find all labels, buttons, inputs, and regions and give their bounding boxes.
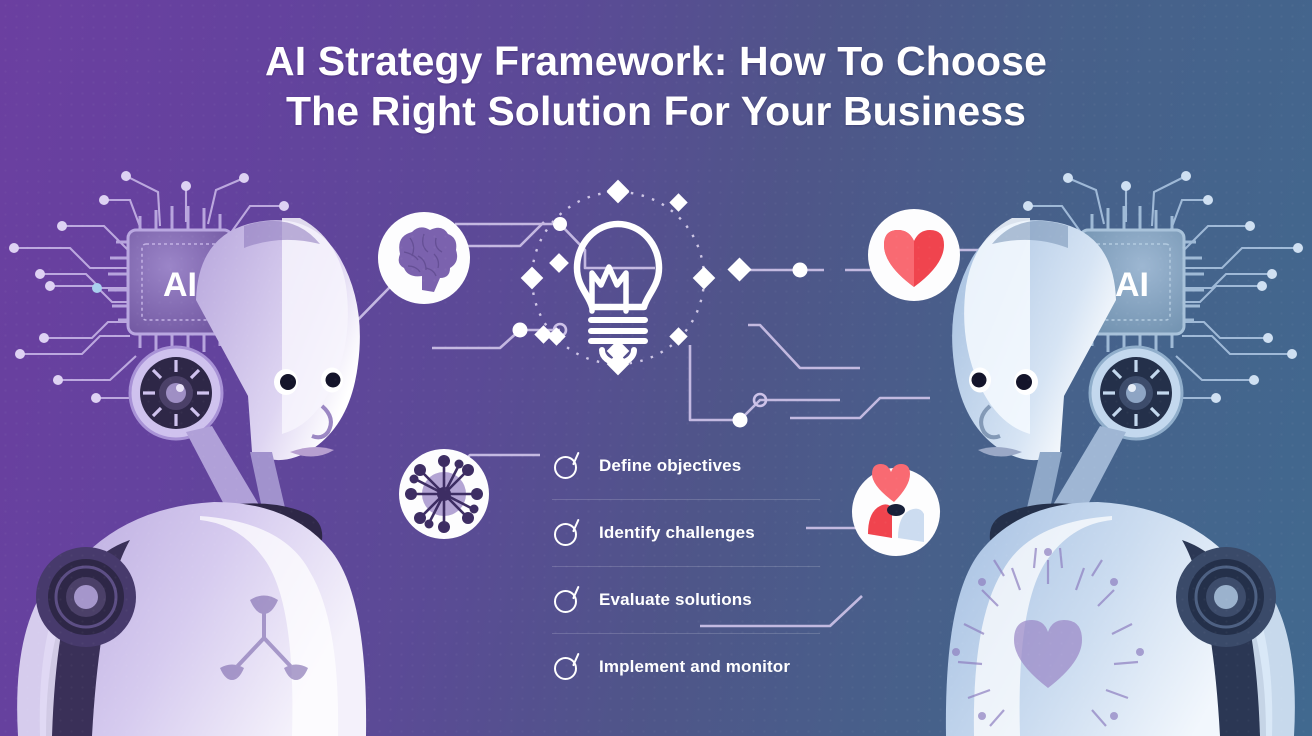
network-bubble[interactable] — [399, 449, 489, 539]
checklist-item-label: Implement and monitor — [599, 657, 790, 677]
checklist-item-label: Evaluate solutions — [599, 590, 752, 610]
connector-nodes — [513, 180, 808, 428]
checklist-item-define-objectives[interactable]: Define objectives — [552, 433, 820, 499]
ai-chip-right-label: AI — [1115, 266, 1149, 304]
node-dot — [513, 323, 528, 338]
node-dot — [553, 217, 567, 231]
page-title: AI Strategy Framework: How To Choose The… — [0, 36, 1312, 136]
checklist-item-label: Identify challenges — [599, 523, 755, 543]
circle-check-marker-icon — [552, 516, 586, 550]
robot-left: AI — [9, 171, 366, 736]
eye-right — [326, 373, 341, 388]
robot-right-shoulder — [1176, 547, 1276, 647]
node-diamond — [549, 253, 569, 273]
eye-left — [280, 374, 296, 390]
robot-left-ear — [130, 347, 222, 439]
ai-chip-left-label: AI — [163, 266, 197, 304]
circle-check-marker-icon — [552, 650, 586, 684]
robot-right: AI — [946, 171, 1303, 736]
network-hub-icon — [405, 455, 483, 533]
checklist: Define objectives Identify challenges Ev… — [552, 433, 820, 700]
node-diamond — [669, 193, 687, 211]
checklist-item-label: Define objectives — [599, 456, 741, 476]
brain-bubble[interactable] — [378, 212, 470, 304]
page-title-line-1: AI Strategy Framework: How To Choose — [0, 36, 1312, 86]
circle-check-marker-icon — [552, 583, 586, 617]
robot-right-ear — [1090, 347, 1182, 439]
lightbulb-icon — [577, 224, 659, 363]
node-dot — [793, 263, 808, 278]
circle-check-marker-icon — [552, 449, 586, 483]
heart-bubble[interactable] — [868, 209, 960, 301]
page-title-line-2: The Right Solution For Your Business — [0, 86, 1312, 136]
node-diamond — [727, 257, 751, 281]
people-bubble[interactable] — [852, 464, 940, 556]
robot-left-shoulder — [36, 547, 136, 647]
checklist-item-identify-challenges[interactable]: Identify challenges — [552, 499, 820, 566]
infographic-canvas: AI — [0, 0, 1312, 736]
node-dot — [733, 413, 748, 428]
checklist-item-implement-and-monitor[interactable]: Implement and monitor — [552, 633, 820, 700]
checklist-item-evaluate-solutions[interactable]: Evaluate solutions — [552, 566, 820, 633]
